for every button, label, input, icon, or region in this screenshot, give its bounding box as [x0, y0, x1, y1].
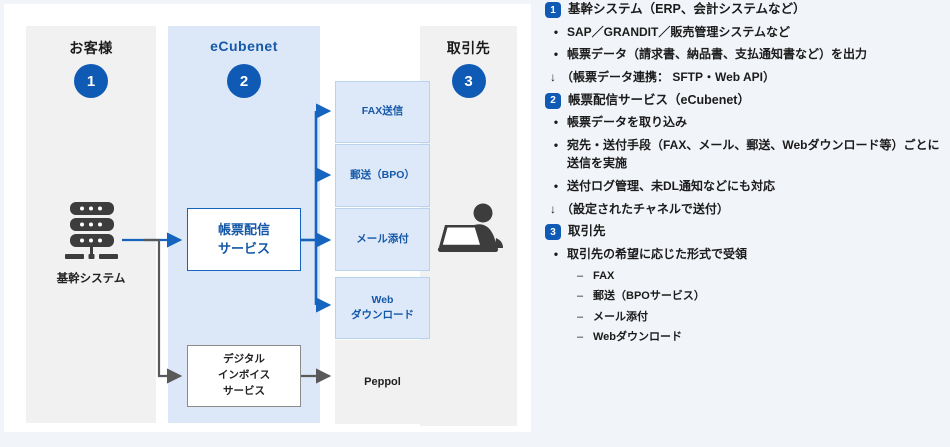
person-with-laptop-icon	[436, 202, 508, 260]
box-delivery-line1: 帳票配信	[218, 221, 270, 240]
step-block-3: 3 取引先 • 取引先の希望に応じた形式で受領 – FAX – 郵送（BPOサー…	[545, 222, 950, 347]
step-2-bullet-3: • 送付ログ管理、未DL通知などにも対応	[545, 177, 950, 196]
lane-customer-badge: 1	[74, 64, 108, 98]
channel-peppol-label: Peppol	[364, 376, 401, 388]
bullet-dot-icon: •	[545, 23, 567, 42]
step-3-sub-4-text: Webダウンロード	[593, 329, 682, 347]
steps-panel: 1 基幹システム（ERP、会計システムなど） • SAP／GRANDIT／販売管…	[545, 0, 950, 447]
step-3-heading-row: 3 取引先	[545, 222, 950, 241]
step-3-badge: 3	[545, 224, 561, 240]
channel-web-download-label-line2: ダウンロード	[351, 308, 414, 323]
bullet-dot-icon: •	[545, 113, 567, 132]
bullet-dot-icon: •	[545, 136, 567, 155]
step-1-bullet-1-text: SAP／GRANDIT／販売管理システムなど	[567, 23, 794, 42]
step-3-sub-2-text: 郵送（BPOサービス）	[593, 288, 705, 306]
box-delivery-service: 帳票配信 サービス	[187, 208, 301, 271]
step-3-sub-3: – メール添付	[545, 309, 950, 327]
box-invoice-line1: デジタル	[223, 352, 265, 368]
box-invoice-line3: サービス	[223, 384, 265, 400]
channel-email-attachment: メール添付	[335, 208, 430, 271]
channel-fax: FAX送信	[335, 81, 430, 143]
step-1-badge: 1	[545, 2, 561, 18]
dash-icon: –	[567, 288, 593, 306]
dash-icon: –	[567, 329, 593, 347]
step-3-sub-4: – Webダウンロード	[545, 329, 950, 347]
step-1-bullet-1: • SAP／GRANDIT／販売管理システムなど	[545, 23, 950, 42]
step-1-heading-row: 1 基幹システム（ERP、会計システムなど）	[545, 0, 950, 19]
step-2-badge: 2	[545, 93, 561, 109]
step-2-heading-row: 2 帳票配信サービス（eCubenet）	[545, 91, 950, 110]
server-rack-icon	[64, 201, 120, 261]
bullet-dot-icon: •	[545, 45, 567, 64]
step-3-bullet-1-text: 取引先の希望に応じた形式で受領	[567, 245, 751, 264]
step-3-sub-3-text: メール添付	[593, 309, 648, 327]
step-3-sub-1-text: FAX	[593, 268, 614, 286]
step-block-2: 2 帳票配信サービス（eCubenet） • 帳票データを取り込み • 宛先・送…	[545, 91, 950, 219]
step-1-flow-text: （帳票データ連携： SFTP・Web API）	[561, 68, 775, 87]
step-3-sub-1: – FAX	[545, 268, 950, 286]
channel-postal-bpo: 郵送（BPO）	[335, 144, 430, 207]
channel-postal-bpo-label: 郵送（BPO）	[350, 168, 415, 183]
lane-partner-title: 取引先	[420, 38, 517, 58]
channel-fax-label: FAX送信	[362, 104, 403, 119]
lane-customer-title: お客様	[26, 38, 156, 58]
down-arrow-icon: ↓	[545, 68, 561, 87]
channel-web-download: Web ダウンロード	[335, 277, 430, 339]
lane-ecubenet-badge: 2	[227, 64, 261, 98]
dash-icon: –	[567, 268, 593, 286]
channel-peppol: Peppol	[335, 340, 430, 424]
box-delivery-line2: サービス	[218, 240, 270, 259]
bullet-dot-icon: •	[545, 245, 567, 264]
diagram-card: お客様 1 eCubenet 2 取引先 3	[4, 4, 531, 432]
step-2-bullet-3-text: 送付ログ管理、未DL通知などにも対応	[567, 177, 779, 196]
step-2-flow-text: （設定されたチャネルで送付）	[561, 200, 729, 219]
step-1-bullet-2: • 帳票データ（請求書、納品書、支払通知書など）を出力	[545, 45, 950, 64]
step-2-bullet-1: • 帳票データを取り込み	[545, 113, 950, 132]
step-3-heading: 取引先	[568, 222, 606, 241]
lane-ecubenet-title: eCubenet	[168, 38, 320, 54]
step-3-sub-2: – 郵送（BPOサービス）	[545, 288, 950, 306]
step-2-bullet-2-text: 宛先・送付手段（FAX、メール、郵送、Webダウンロード等）ごとに送信を実施	[567, 136, 950, 173]
box-digital-invoice-service: デジタル インボイス サービス	[187, 345, 301, 407]
step-1-heading: 基幹システム（ERP、会計システムなど）	[568, 0, 805, 19]
step-2-flow-row: ↓ （設定されたチャネルで送付）	[545, 200, 950, 219]
channel-web-download-label-line1: Web	[351, 293, 414, 308]
step-1-flow-row: ↓ （帳票データ連携： SFTP・Web API）	[545, 68, 950, 87]
server-label: 基幹システム	[26, 270, 156, 286]
dash-icon: –	[567, 309, 593, 327]
step-block-1: 1 基幹システム（ERP、会計システムなど） • SAP／GRANDIT／販売管…	[545, 0, 950, 87]
step-2-bullet-1-text: 帳票データを取り込み	[567, 113, 691, 132]
down-arrow-icon: ↓	[545, 200, 561, 219]
box-invoice-line2: インボイス	[218, 368, 270, 384]
step-1-bullet-2-text: 帳票データ（請求書、納品書、支払通知書など）を出力	[567, 45, 871, 64]
step-3-bullet-1: • 取引先の希望に応じた形式で受領	[545, 245, 950, 264]
lane-partner-badge: 3	[452, 64, 486, 98]
channel-email-attachment-label: メール添付	[356, 232, 409, 247]
step-2-heading: 帳票配信サービス（eCubenet）	[568, 91, 750, 110]
bullet-dot-icon: •	[545, 177, 567, 196]
step-2-bullet-2: • 宛先・送付手段（FAX、メール、郵送、Webダウンロード等）ごとに送信を実施	[545, 136, 950, 173]
